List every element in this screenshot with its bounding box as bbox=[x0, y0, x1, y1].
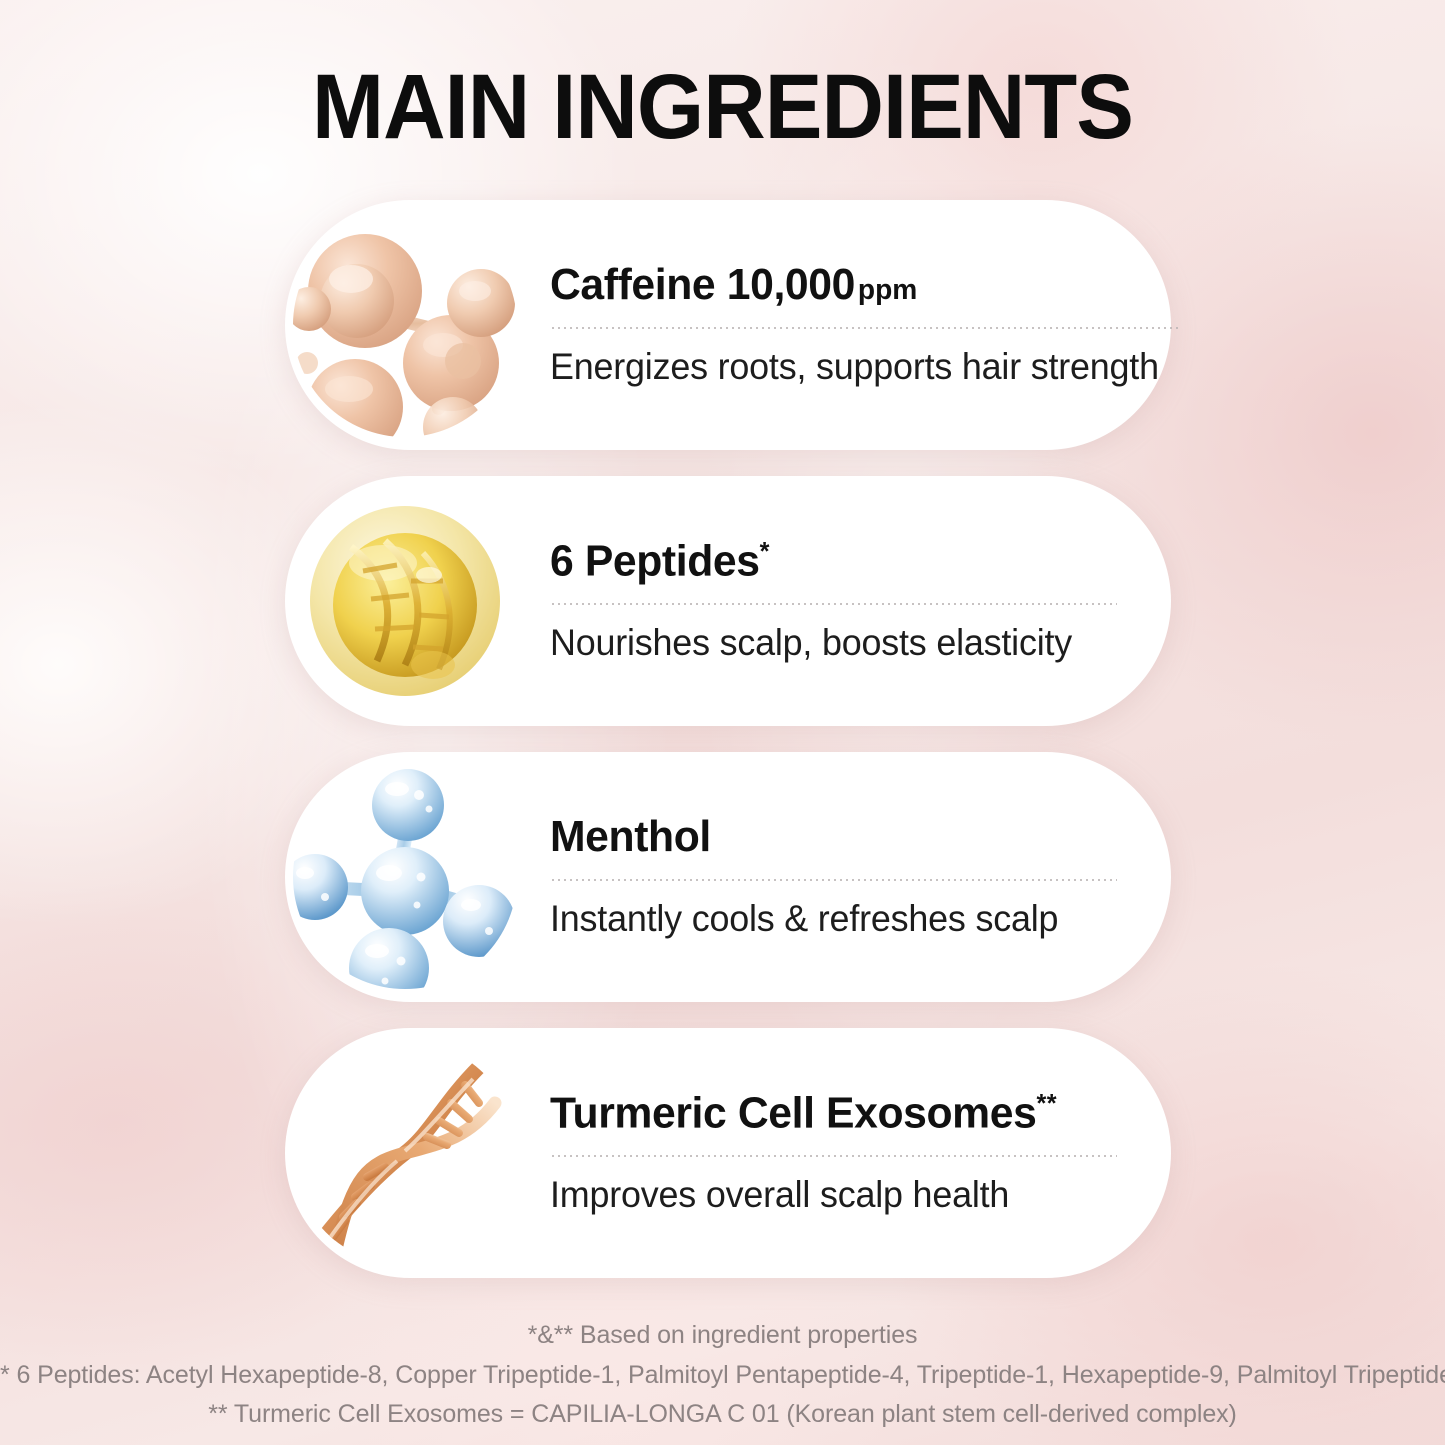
card-description-peptides: Nourishes scalp, boosts elasticity bbox=[550, 622, 1100, 664]
card-divider bbox=[550, 603, 1117, 605]
card-title-menthol: Menthol bbox=[550, 814, 1100, 860]
card-title-text: Turmeric Cell Exosomes bbox=[550, 1089, 1036, 1138]
card-body: Caffeine 10,000ppm Energizes roots, supp… bbox=[517, 262, 1232, 387]
card-description-turmeric-cell-exosomes: Improves overall scalp health bbox=[550, 1174, 1100, 1216]
card-title-footnote-marker: * bbox=[760, 536, 770, 566]
footnote-line-1: *&** Based on ingredient properties bbox=[0, 1316, 1445, 1356]
card-title-caffeine: Caffeine 10,000ppm bbox=[550, 262, 1159, 308]
ingredient-card-peptides[interactable]: 6 Peptides* Nourishes scalp, boosts elas… bbox=[285, 476, 1171, 726]
card-body: Menthol Instantly cools & refreshes scal… bbox=[517, 814, 1171, 939]
footnotes: *&** Based on ingredient properties * 6 … bbox=[0, 1316, 1445, 1435]
card-body: Turmeric Cell Exosomes** Improves overal… bbox=[517, 1090, 1171, 1216]
card-divider bbox=[550, 327, 1178, 329]
card-title-turmeric-cell-exosomes: Turmeric Cell Exosomes** bbox=[550, 1090, 1100, 1137]
ingredient-card-list: Caffeine 10,000ppm Energizes roots, supp… bbox=[285, 200, 1171, 1304]
golden-serum-droplet-dna-image bbox=[293, 489, 517, 713]
card-divider bbox=[550, 1155, 1117, 1157]
card-title-footnote-marker: ** bbox=[1036, 1088, 1057, 1118]
blue-menthol-molecule-image bbox=[293, 765, 517, 989]
card-title-text: 6 Peptides bbox=[550, 537, 760, 586]
page-title: MAIN INGREDIENTS bbox=[43, 55, 1401, 160]
ingredient-card-turmeric-cell-exosomes[interactable]: Turmeric Cell Exosomes** Improves overal… bbox=[285, 1028, 1171, 1278]
ingredient-card-caffeine[interactable]: Caffeine 10,000ppm Energizes roots, supp… bbox=[285, 200, 1171, 450]
footnote-line-3: ** Turmeric Cell Exosomes = CAPILIA-LONG… bbox=[0, 1395, 1445, 1435]
card-description-caffeine: Energizes roots, supports hair strength bbox=[550, 346, 1159, 388]
ingredient-card-menthol[interactable]: Menthol Instantly cools & refreshes scal… bbox=[285, 752, 1171, 1002]
card-title-unit: ppm bbox=[858, 274, 917, 306]
card-body: 6 Peptides* Nourishes scalp, boosts elas… bbox=[517, 538, 1171, 664]
card-title-text: Menthol bbox=[550, 812, 711, 861]
card-description-menthol: Instantly cools & refreshes scalp bbox=[550, 898, 1100, 940]
card-title-text: Caffeine 10,000 bbox=[550, 260, 855, 309]
copper-dna-helix-image bbox=[293, 1041, 517, 1265]
card-divider bbox=[550, 879, 1117, 881]
footnote-line-2: * 6 Peptides: Acetyl Hexapeptide-8, Copp… bbox=[0, 1356, 1445, 1396]
card-title-peptides: 6 Peptides* bbox=[550, 538, 1100, 585]
rose-gold-molecule-spheres-image bbox=[293, 213, 517, 437]
